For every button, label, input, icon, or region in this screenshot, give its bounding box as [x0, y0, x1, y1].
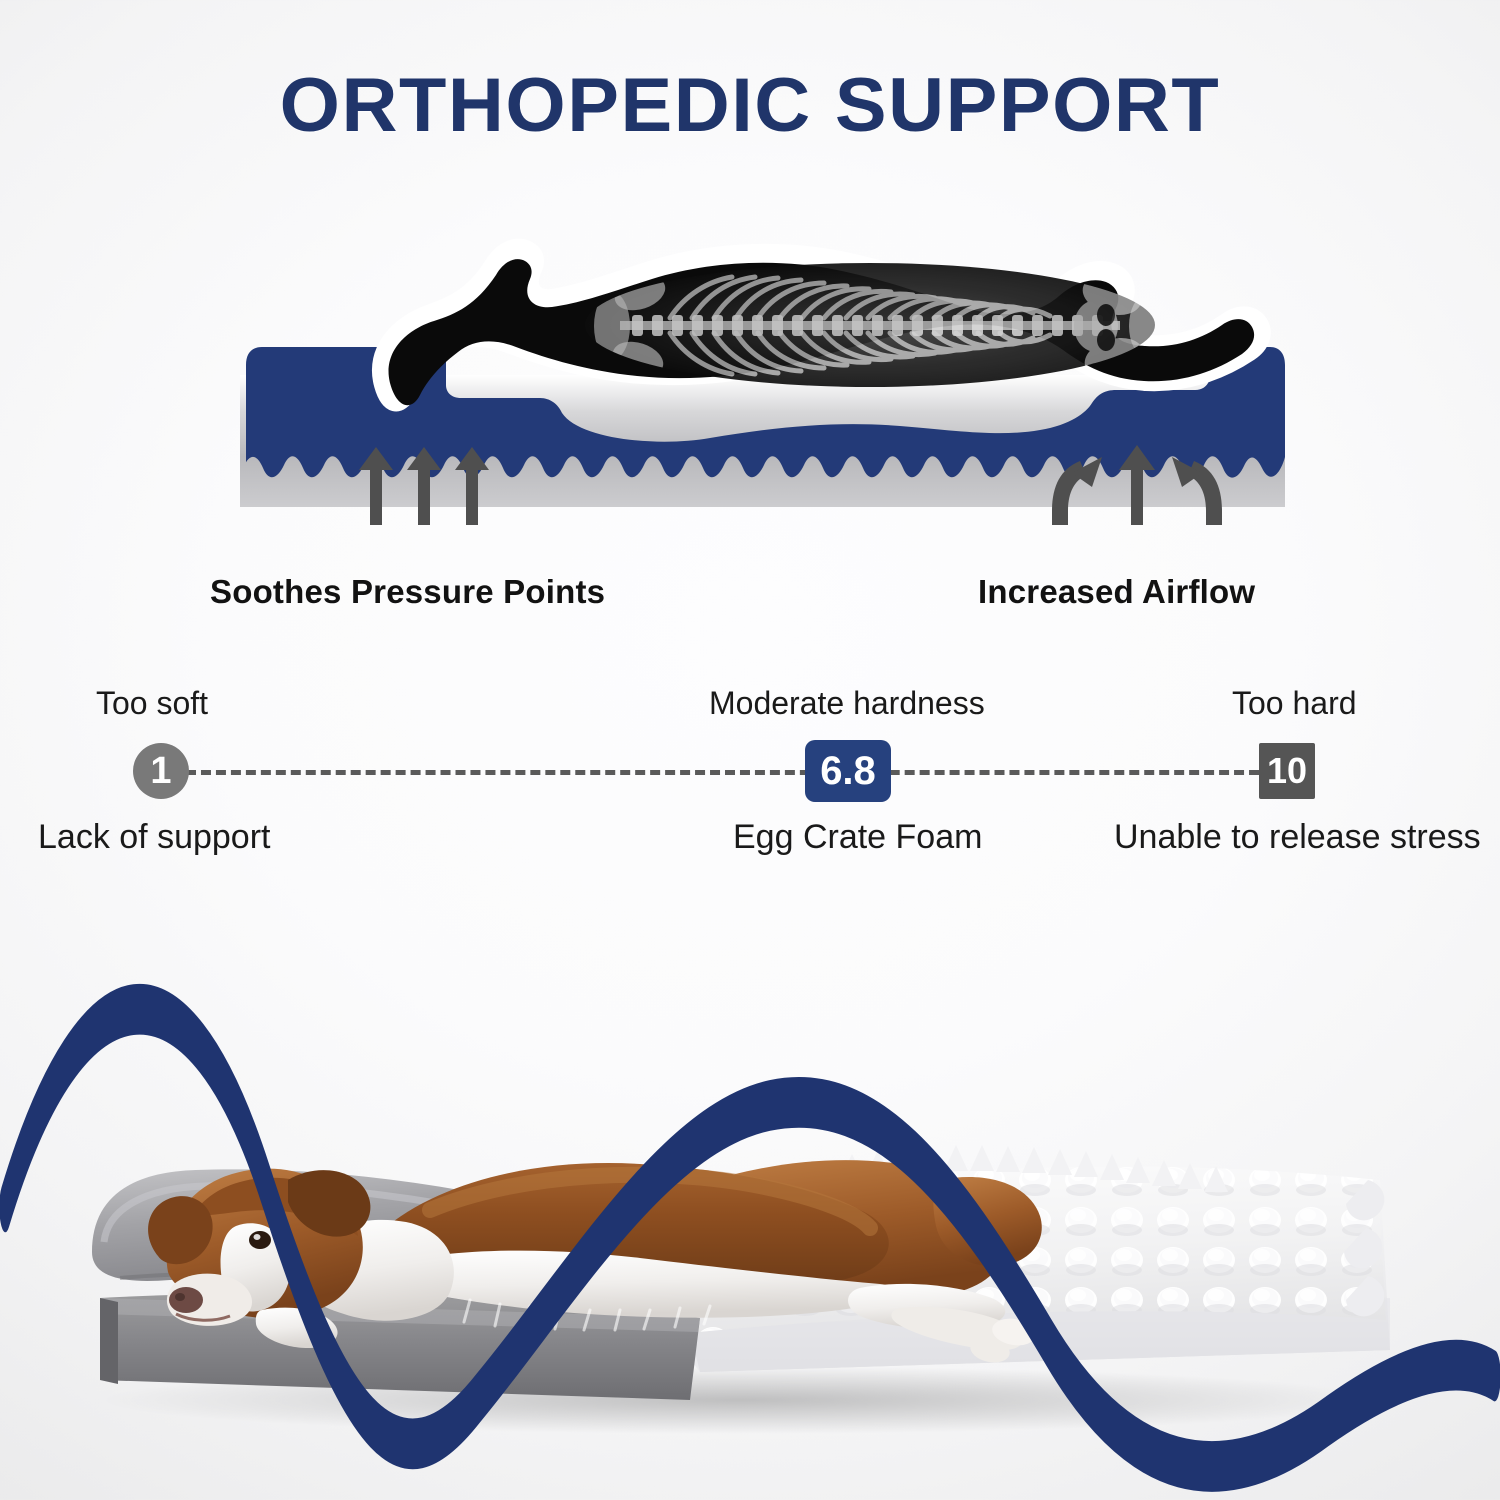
scale-marker-max[interactable]: 10	[1259, 743, 1315, 799]
scale-label-moderate-hardness: Moderate hardness	[709, 685, 985, 722]
pressure-point-arrows	[359, 447, 489, 525]
product-photo	[0, 880, 1500, 1500]
scale-label-too-hard: Too hard	[1232, 685, 1357, 722]
page-title: ORTHOPEDIC SUPPORT	[0, 62, 1500, 149]
hardness-scale: Too soft Moderate hardness Too hard 1 6.…	[0, 685, 1500, 865]
scale-label-too-soft: Too soft	[96, 685, 208, 722]
foam-cross-section-diagram	[240, 225, 1285, 525]
scale-marker-min[interactable]: 1	[133, 743, 189, 799]
scale-label-egg-crate-foam: Egg Crate Foam	[733, 818, 982, 857]
scale-label-unable-to-release-stress: Unable to release stress	[1114, 818, 1481, 857]
label-increased-airflow: Increased Airflow	[978, 573, 1255, 611]
label-soothes-pressure-points: Soothes Pressure Points	[210, 573, 605, 611]
scale-label-lack-of-support: Lack of support	[38, 818, 270, 857]
navy-wave-accent-line	[0, 880, 1500, 1500]
title-block: ORTHOPEDIC SUPPORT	[0, 62, 1500, 149]
scale-dashed-track	[186, 770, 1274, 775]
scale-marker-current[interactable]: 6.8	[805, 740, 891, 802]
